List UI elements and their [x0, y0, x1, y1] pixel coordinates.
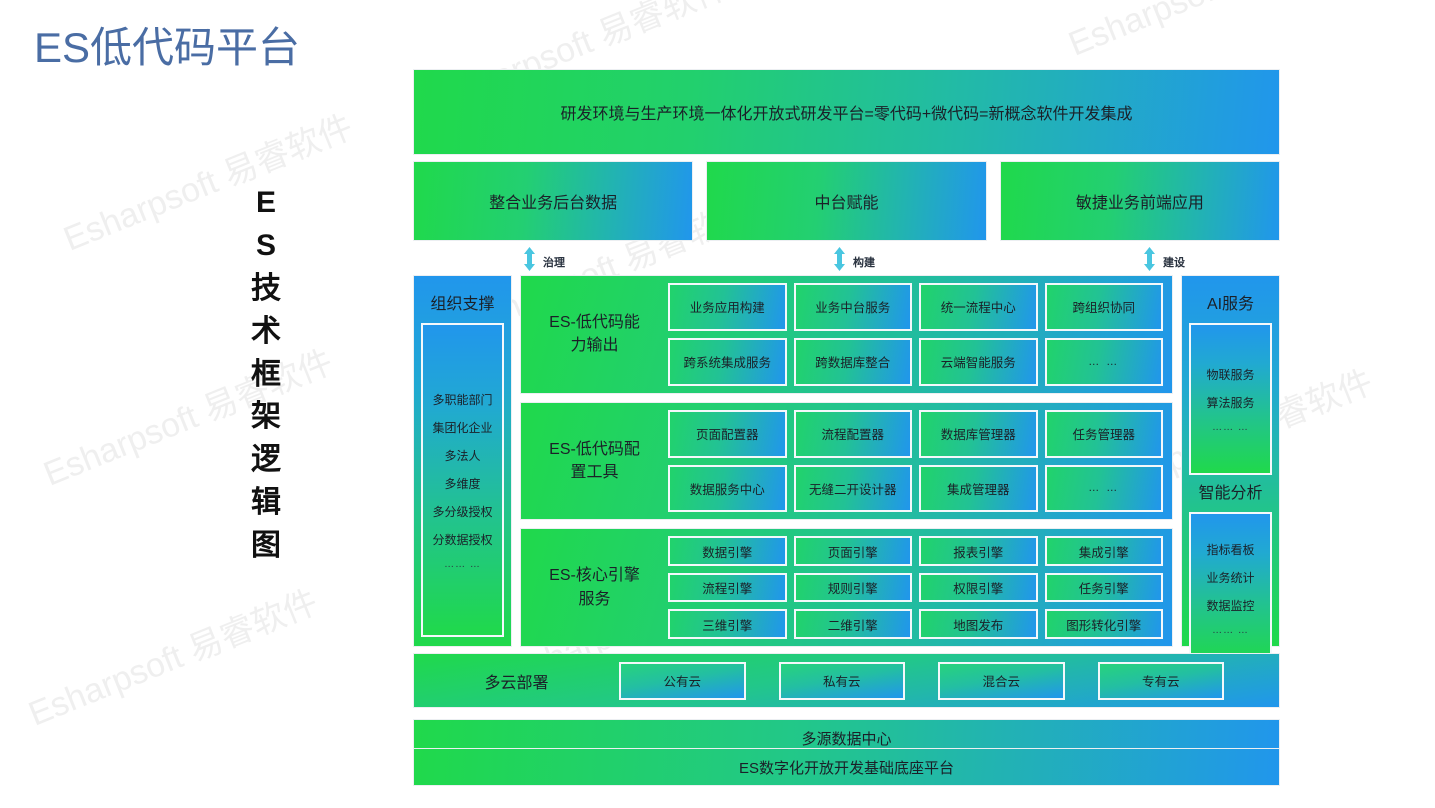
capability-cell[interactable]: 流程配置器 [794, 410, 913, 458]
capability-cell[interactable]: 跨数据库整合 [794, 338, 913, 386]
vertical-title-char: 逻 [243, 439, 289, 482]
capability-cell[interactable]: 集成引擎 [1045, 536, 1164, 566]
cloud-option-hybrid[interactable]: 混合云 [938, 662, 1065, 700]
capability-cell[interactable]: 报表引擎 [919, 536, 1038, 566]
vertical-title-char: S [243, 225, 289, 268]
group-label-line: ES-低代码配 [521, 438, 668, 461]
pillar-card-midplatform-enable[interactable]: 中台赋能 [706, 161, 986, 241]
vertical-title-char: 术 [243, 311, 289, 354]
capability-cell-ellipsis: … … [1045, 338, 1164, 386]
foundation-platform-row: ES数字化开放开发基础底座平台 [413, 748, 1280, 786]
foundation-label: ES数字化开放开发基础底座平台 [739, 757, 954, 778]
capability-cell[interactable]: 数据服务中心 [668, 465, 787, 513]
datacenter-label: 多源数据中心 [801, 728, 891, 749]
group-label: ES-核心引擎 服务 [521, 564, 668, 610]
pillar-label: 敏捷业务前端应用 [1076, 189, 1204, 213]
double-arrow-vertical-icon [523, 247, 536, 276]
arrow-row: 治理 构建 [413, 247, 1280, 273]
right-sidebar: AI服务 物联服务 算法服务 …… … 智能分析 指标看板 业务统计 数据监控 … [1181, 275, 1280, 647]
vertical-title-char: 图 [243, 525, 289, 568]
capability-cell[interactable]: 页面引擎 [794, 536, 913, 566]
watermark: Esharpsoft 易睿软件 [20, 575, 324, 736]
left-sidebar-org-support: 组织支撑 多职能部门 集团化企业 多法人 多维度 多分级授权 分数据授权 …… … [413, 275, 512, 647]
capability-cell[interactable]: 二维引擎 [794, 609, 913, 639]
capability-cell[interactable]: 统一流程中心 [919, 283, 1038, 331]
capability-cell[interactable]: 业务应用构建 [668, 283, 787, 331]
capability-cell[interactable]: 任务引擎 [1045, 573, 1164, 603]
main-band: 组织支撑 多职能部门 集团化企业 多法人 多维度 多分级授权 分数据授权 …… … [413, 275, 1280, 647]
right-sidebar-heading-ai: AI服务 [1207, 286, 1254, 323]
list-item-ellipsis: …… … [1212, 422, 1249, 433]
cloud-deployment-row: 多云部署 公有云 私有云 混合云 专有云 [413, 653, 1280, 708]
group-label: ES-低代码配 置工具 [521, 438, 668, 484]
capability-cell[interactable]: 页面配置器 [668, 410, 787, 458]
arrow-label: 建设 [1163, 254, 1185, 270]
cloud-option-dedicated[interactable]: 专有云 [1098, 662, 1225, 700]
vertical-title-char: E [243, 182, 289, 225]
top-banner-label: 研发环境与生产环境一体化开放式研发平台=零代码+微代码=新概念软件开发集成 [560, 100, 1132, 124]
cloud-option-private[interactable]: 私有云 [779, 662, 906, 700]
group-label-line: 置工具 [521, 461, 668, 484]
capability-cell[interactable]: 无缝二开设计器 [794, 465, 913, 513]
capability-groups: ES-低代码能 力输出 业务应用构建 业务中台服务 统一流程中心 跨组织协同 跨… [520, 275, 1173, 647]
watermark: Esharpsoft 易睿软件 [35, 335, 339, 496]
group-cell-grid: 业务应用构建 业务中台服务 统一流程中心 跨组织协同 跨系统集成服务 跨数据库整… [668, 283, 1163, 386]
capability-cell[interactable]: 规则引擎 [794, 573, 913, 603]
list-item[interactable]: 物联服务 [1206, 366, 1254, 383]
capability-cell[interactable]: 跨组织协同 [1045, 283, 1164, 331]
capability-cell[interactable]: 集成管理器 [919, 465, 1038, 513]
list-item-ellipsis: …… … [444, 559, 481, 570]
watermark: Esharpsoft 易睿软件 [55, 100, 359, 261]
group-core-engine-services: ES-核心引擎 服务 数据引擎 页面引擎 报表引擎 集成引擎 流程引擎 规则引擎… [520, 528, 1173, 647]
arrow-group-build: 构建 [833, 247, 875, 276]
cloud-deployment-label: 多云部署 [414, 669, 619, 693]
left-sidebar-heading: 组织支撑 [430, 286, 494, 323]
group-label-line: 力输出 [521, 334, 668, 357]
list-item[interactable]: 算法服务 [1206, 394, 1254, 411]
capability-cell[interactable]: 跨系统集成服务 [668, 338, 787, 386]
pillar-label: 中台赋能 [814, 189, 878, 213]
pillar-card-agile-frontend[interactable]: 敏捷业务前端应用 [1000, 161, 1280, 241]
arrow-group-governance: 治理 [523, 247, 565, 276]
capability-cell-ellipsis: … … [1045, 465, 1164, 513]
group-label: ES-低代码能 力输出 [521, 311, 668, 357]
capability-cell[interactable]: 云端智能服务 [919, 338, 1038, 386]
cloud-option-public[interactable]: 公有云 [619, 662, 746, 700]
capability-cell[interactable]: 权限引擎 [919, 573, 1038, 603]
capability-cell[interactable]: 地图发布 [919, 609, 1038, 639]
watermark: Esharpsoft 易睿软件 [1060, 0, 1364, 65]
list-item[interactable]: 业务统计 [1206, 569, 1254, 586]
pillar-label: 整合业务后台数据 [489, 189, 617, 213]
capability-cell[interactable]: 数据库管理器 [919, 410, 1038, 458]
group-cell-grid: 数据引擎 页面引擎 报表引擎 集成引擎 流程引擎 规则引擎 权限引擎 任务引擎 … [668, 536, 1163, 639]
slide-canvas: Esharpsoft 易睿软件 Esharpsoft 易睿软件 Esharpso… [0, 0, 1435, 808]
group-lowcode-capability-output: ES-低代码能 力输出 业务应用构建 业务中台服务 统一流程中心 跨组织协同 跨… [520, 275, 1173, 394]
arrow-label: 治理 [543, 254, 565, 270]
list-item[interactable]: 多分级授权 [432, 503, 492, 520]
list-item[interactable]: 多职能部门 [432, 391, 492, 408]
capability-cell[interactable]: 任务管理器 [1045, 410, 1164, 458]
arrow-label: 构建 [853, 254, 875, 270]
double-arrow-vertical-icon [833, 247, 846, 276]
top-banner: 研发环境与生产环境一体化开放式研发平台=零代码+微代码=新概念软件开发集成 [413, 69, 1280, 155]
group-cell-grid: 页面配置器 流程配置器 数据库管理器 任务管理器 数据服务中心 无缝二开设计器 … [668, 410, 1163, 513]
group-label-line: ES-低代码能 [521, 311, 668, 334]
list-item[interactable]: 指标看板 [1206, 541, 1254, 558]
list-item[interactable]: 数据监控 [1206, 597, 1254, 614]
left-sidebar-item-list: 多职能部门 集团化企业 多法人 多维度 多分级授权 分数据授权 …… … [421, 323, 504, 637]
right-sidebar-heading-analytics: 智能分析 [1198, 475, 1262, 512]
right-sidebar-ai-item-list: 物联服务 算法服务 …… … [1189, 323, 1272, 475]
vertical-title-char: 辑 [243, 482, 289, 525]
capability-cell[interactable]: 三维引擎 [668, 609, 787, 639]
capability-cell[interactable]: 业务中台服务 [794, 283, 913, 331]
vertical-title-char: 框 [243, 354, 289, 397]
vertical-title-char: 技 [243, 268, 289, 311]
arrow-group-construct: 建设 [1143, 247, 1185, 276]
pillar-row: 整合业务后台数据 中台赋能 敏捷业务前端应用 [413, 161, 1280, 241]
vertical-title-char: 架 [243, 396, 289, 439]
vertical-diagram-title: E S 技 术 框 架 逻 辑 图 [243, 182, 289, 568]
pillar-card-backend-data[interactable]: 整合业务后台数据 [413, 161, 693, 241]
double-arrow-vertical-icon [1143, 247, 1156, 276]
group-lowcode-config-tools: ES-低代码配 置工具 页面配置器 流程配置器 数据库管理器 任务管理器 数据服… [520, 402, 1173, 521]
cloud-option-list: 公有云 私有云 混合云 专有云 [619, 662, 1279, 700]
list-item-ellipsis: …… … [1212, 625, 1249, 636]
capability-cell[interactable]: 数据引擎 [668, 536, 787, 566]
list-item[interactable]: 集团化企业 [432, 419, 492, 436]
group-label-line: ES-核心引擎 [521, 564, 668, 587]
right-sidebar-analytics-item-list: 指标看板 业务统计 数据监控 …… … [1189, 512, 1272, 664]
list-item[interactable]: 分数据授权 [432, 531, 492, 548]
list-item[interactable]: 多维度 [444, 475, 480, 492]
list-item[interactable]: 多法人 [444, 447, 480, 464]
capability-cell[interactable]: 图形转化引擎 [1045, 609, 1164, 639]
group-label-line: 服务 [521, 588, 668, 611]
capability-cell[interactable]: 流程引擎 [668, 573, 787, 603]
architecture-diagram: 研发环境与生产环境一体化开放式研发平台=零代码+微代码=新概念软件开发集成 整合… [413, 69, 1280, 785]
page-title: ES低代码平台 [34, 22, 300, 75]
